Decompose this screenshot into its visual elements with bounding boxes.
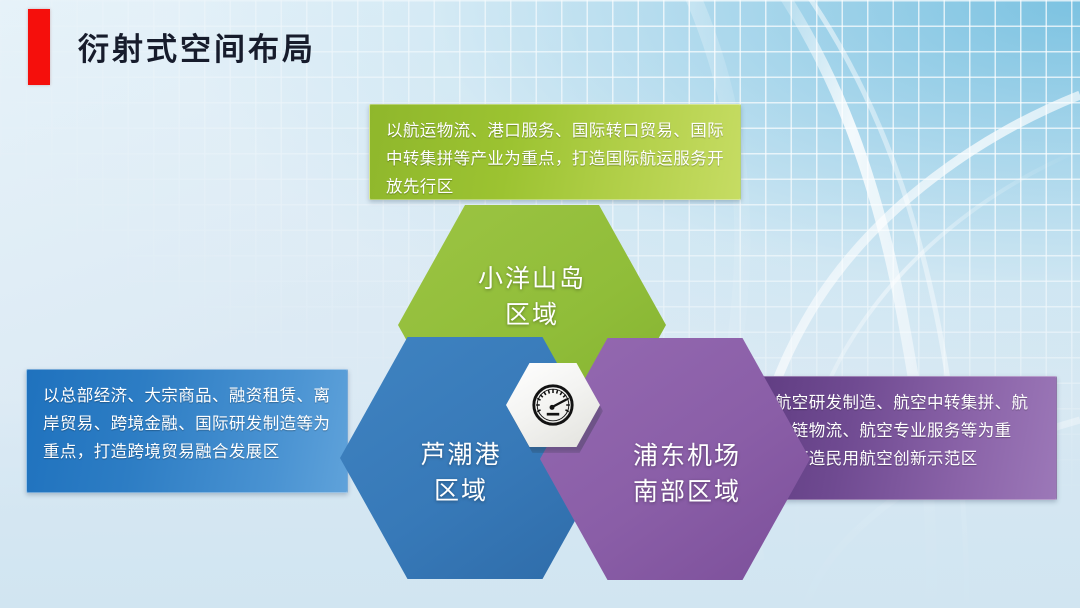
- hexagon-label-purple: 浦东机场 南部区域: [633, 438, 741, 510]
- title-accent-bar: [28, 9, 50, 85]
- callout-green: 以航运物流、港口服务、国际转口贸易、国际中转集拼等产业为重点，打造国际航运服务开…: [369, 104, 741, 200]
- hexagon-label-green: 小洋山岛 区域: [478, 261, 586, 333]
- callout-blue: 以总部经济、大宗商品、融资租赁、离岸贸易、跨境金融、国际研发制造等为重点，打造跨…: [26, 369, 348, 493]
- page-title: 衍射式空间布局: [78, 24, 316, 69]
- gauge-icon: [530, 382, 576, 428]
- hexagon-label-blue: 芦潮港 区域: [420, 437, 501, 509]
- slide-canvas: 衍射式空间布局 以航运物流、港口服务、国际转口贸易、国际中转集拼等产业为重点，打…: [0, 0, 1080, 608]
